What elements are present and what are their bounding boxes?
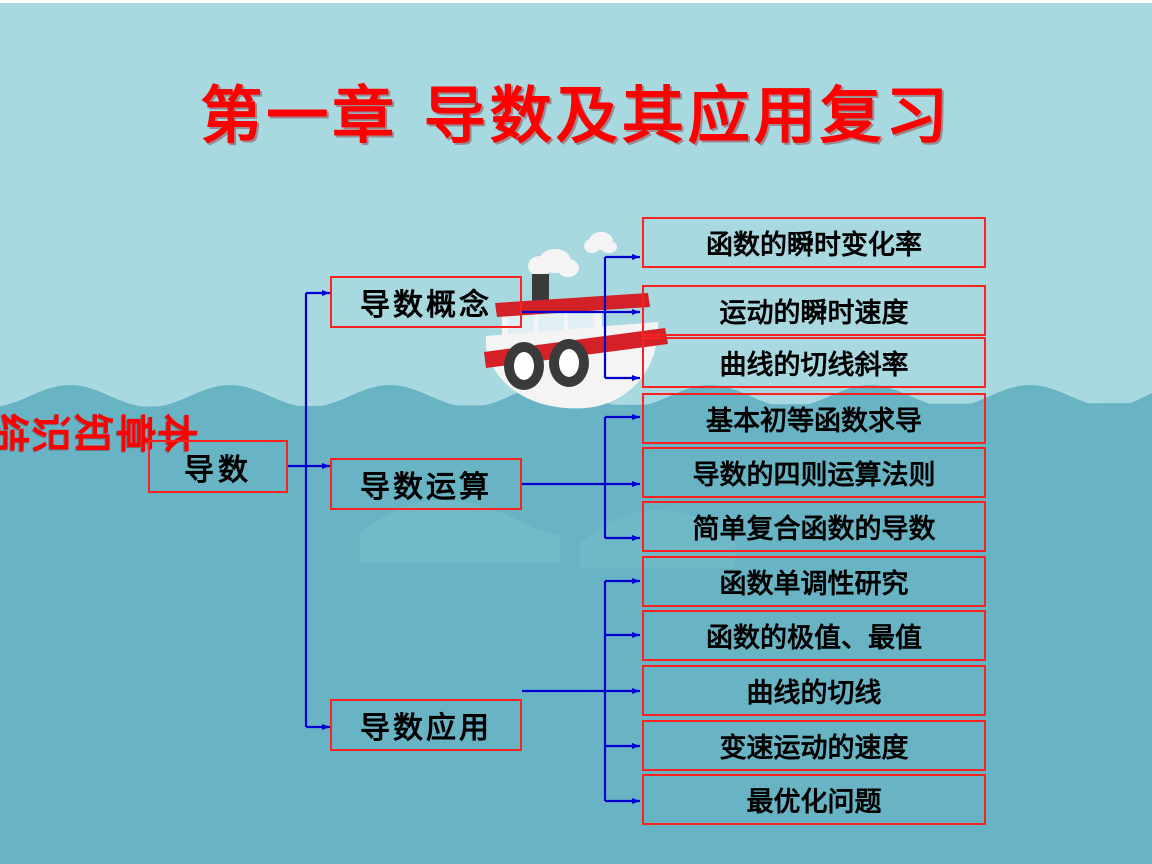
node-leaf-extremum-maximum[interactable]: 函数的极值、最值 bbox=[642, 610, 986, 661]
node-leaf-label: 函数的极值、最值 bbox=[706, 616, 922, 655]
node-branch-label: 导数应用 bbox=[360, 703, 492, 747]
node-leaf-label: 函数的瞬时变化率 bbox=[706, 223, 922, 262]
node-root-label: 导数 bbox=[184, 445, 252, 489]
smoke-icon bbox=[528, 232, 617, 277]
node-leaf-label: 最优化问题 bbox=[747, 780, 882, 819]
node-leaf-instantaneous-rate[interactable]: 函数的瞬时变化率 bbox=[642, 217, 986, 268]
node-leaf-label: 基本初等函数求导 bbox=[706, 399, 922, 438]
section-label-vertical: 本章知识结构 bbox=[44, 303, 92, 555]
node-branch-application[interactable]: 导数应用 bbox=[330, 699, 522, 751]
node-leaf-elementary-function-derivative[interactable]: 基本初等函数求导 bbox=[642, 393, 986, 444]
node-leaf-label: 简单复合函数的导数 bbox=[693, 507, 936, 546]
node-leaf-label: 曲线的切线斜率 bbox=[720, 343, 909, 382]
slide-title: 第一章 导数及其应用复习 bbox=[0, 65, 1152, 155]
node-leaf-instantaneous-velocity[interactable]: 运动的瞬时速度 bbox=[642, 285, 986, 336]
node-branch-label: 导数运算 bbox=[360, 462, 492, 506]
node-leaf-monotonicity[interactable]: 函数单调性研究 bbox=[642, 556, 986, 607]
node-branch-label: 导数概念 bbox=[360, 280, 492, 324]
node-leaf-label: 导数的四则运算法则 bbox=[693, 453, 936, 492]
node-leaf-optimization[interactable]: 最优化问题 bbox=[642, 774, 986, 825]
node-leaf-tangent-slope[interactable]: 曲线的切线斜率 bbox=[642, 337, 986, 388]
node-branch-operation[interactable]: 导数运算 bbox=[330, 458, 522, 510]
node-leaf-tangent-line[interactable]: 曲线的切线 bbox=[642, 665, 986, 716]
slide-canvas: 第一章 导数及其应用复习 本章知识结构 导数 导数概念 导数运算 导数应用 函数… bbox=[0, 0, 1152, 864]
node-root-derivative[interactable]: 导数 bbox=[148, 440, 288, 493]
node-leaf-four-arithmetic-rules[interactable]: 导数的四则运算法则 bbox=[642, 447, 986, 498]
node-branch-concept[interactable]: 导数概念 bbox=[330, 276, 522, 328]
node-leaf-label: 曲线的切线 bbox=[747, 671, 882, 710]
node-leaf-label: 变速运动的速度 bbox=[720, 726, 909, 765]
node-leaf-variable-speed[interactable]: 变速运动的速度 bbox=[642, 720, 986, 771]
node-leaf-label: 运动的瞬时速度 bbox=[720, 291, 909, 330]
node-leaf-label: 函数单调性研究 bbox=[720, 562, 909, 601]
node-leaf-composite-function-derivative[interactable]: 简单复合函数的导数 bbox=[642, 501, 986, 552]
